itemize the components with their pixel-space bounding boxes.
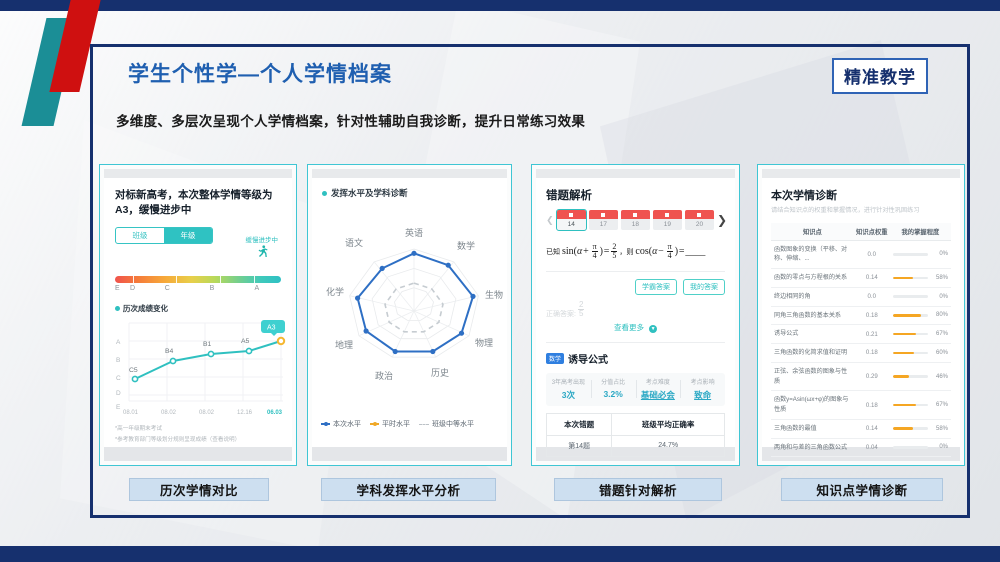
- panel1-footnotes: *高一年级期末考试 *参考教育部门等级划分规则呈现成绩（查看说明）: [115, 424, 281, 445]
- formula-prefix: 已知: [546, 247, 560, 257]
- svg-text:B1: B1: [203, 341, 212, 348]
- formula-mid: ，则: [619, 247, 633, 257]
- panel-bottom-strip: [312, 447, 507, 461]
- svg-text:生物: 生物: [485, 289, 503, 300]
- stat-score-share: 分值占比 3.2%: [591, 377, 636, 401]
- svg-text:物理: 物理: [475, 337, 493, 348]
- mastery-track: [893, 314, 928, 317]
- svg-text:06.03: 06.03: [267, 410, 283, 416]
- table-header-row: 本次错题 班级平均正确率: [547, 413, 725, 435]
- td-weight: 0.18: [854, 391, 890, 420]
- progress-note: 缓慢进步中: [246, 234, 279, 244]
- footnote-1: *高一年级期末考试: [115, 424, 281, 434]
- legend-dot-icon: [322, 191, 327, 196]
- precision-teaching-badge: 精准教学: [832, 58, 928, 94]
- question-number: 20: [685, 219, 714, 230]
- table-row: 三角函数的化简求值和证明0.1860%: [771, 344, 951, 363]
- panel-knowledge-diagnosis: 本次学情诊断 请结合知识点的权重和掌握情况，进行针对性巩固练习 知识点 知识点权…: [757, 164, 965, 466]
- legend-marker-orange-icon: [370, 423, 379, 425]
- td-knowledge-point: 两角和与差的三角函数公式: [771, 438, 854, 457]
- table-row: 同角三角函数的基本关系0.1880%: [771, 306, 951, 325]
- svg-text:B: B: [116, 357, 120, 364]
- legend-item-current: 本次水平: [321, 419, 361, 429]
- question-number: 19: [653, 219, 682, 230]
- formula-expr-2: cos(α −: [635, 246, 664, 257]
- wrong-mark-icon: [621, 210, 650, 219]
- caption-chip-knowledge-diagnosis: 知识点学情诊断: [781, 478, 943, 501]
- caption-chips: 历次学情对比 学科发挥水平分析 错题针对解析 知识点学情诊断: [99, 478, 965, 502]
- grade-label-B: B: [210, 285, 215, 292]
- formula-fraction-pi4-a: π4: [592, 243, 598, 261]
- table-row: 两角和与差的三角函数公式0.040%: [771, 438, 951, 457]
- stat-value: 致命: [680, 389, 725, 401]
- question-chip-20[interactable]: 20: [685, 210, 714, 230]
- answer-buttons[interactable]: 学霸答案 我的答案: [546, 279, 725, 295]
- svg-text:08.01: 08.01: [123, 410, 139, 416]
- history-line-chart: A B C D E: [115, 317, 287, 419]
- panel-subject-radar: 发挥水平及学科诊断: [307, 164, 512, 466]
- panel-top-strip: [312, 169, 507, 178]
- td-accuracy: 24.7%: [612, 435, 725, 456]
- table-row: 诱导公式0.2167%: [771, 325, 951, 344]
- top-navy-bar: [0, 0, 1000, 11]
- td-mastery: 0%: [890, 287, 951, 306]
- panel2-title-text: 发挥水平及学科诊断: [331, 187, 408, 199]
- stat-impact: 考点影响 致命: [680, 377, 725, 401]
- question-chip-19[interactable]: 19: [653, 210, 682, 230]
- wrong-mark-icon: [557, 210, 586, 219]
- table-row: 正弦、余弦函数的图象与性质0.2946%: [771, 362, 951, 391]
- panel4-headline: 本次学情诊断: [771, 187, 951, 203]
- td-knowledge-point: 终边相同的角: [771, 287, 854, 306]
- th-knowledge-point: 知识点: [771, 223, 854, 241]
- svg-text:语文: 语文: [345, 237, 363, 248]
- grade-scale-bar: E D C B A: [115, 276, 281, 296]
- grade-label-E: E: [115, 285, 120, 292]
- question-navigator[interactable]: ❮ 14 17 18 19: [546, 210, 725, 230]
- svg-text:C: C: [116, 375, 121, 382]
- knowledge-point-header: 数学 诱导公式: [546, 351, 725, 366]
- svg-text:12.16: 12.16: [237, 410, 253, 416]
- td-mastery: 58%: [890, 269, 951, 288]
- svg-text:数学: 数学: [457, 240, 475, 251]
- mastery-pct: 67%: [931, 402, 948, 408]
- svg-text:历史: 历史: [431, 367, 449, 378]
- table-header-row: 知识点 知识点权重 我的掌握程度: [771, 223, 951, 241]
- mastery-fill: [893, 352, 914, 355]
- legend-label-usual: 平时水平: [382, 419, 410, 429]
- mastery-pct: 0%: [931, 444, 948, 450]
- panel4-subtitle: 请结合知识点的权重和掌握情况，进行针对性巩固练习: [771, 206, 951, 217]
- svg-text:A3: A3: [267, 325, 276, 332]
- td-mastery: 60%: [890, 344, 951, 363]
- td-knowledge-point: 诱导公式: [771, 325, 854, 344]
- mastery-track: [893, 295, 928, 298]
- chevron-right-icon[interactable]: ❯: [717, 213, 725, 227]
- formula-expr-1: sin(α +: [562, 246, 590, 257]
- svg-text:英语: 英语: [405, 227, 423, 238]
- stat-value: 3次: [546, 389, 591, 401]
- mastery-fill: [893, 314, 921, 317]
- formula-blank: ) = ____: [675, 246, 706, 257]
- mastery-pct: 80%: [931, 312, 948, 318]
- knowledge-point-card: 数学 诱导公式 3年高考出现 3次 分值占比 3.2% 考点难: [546, 342, 725, 457]
- footnote-2: *参考教育部门等级划分规则呈现成绩（查看说明）: [115, 435, 281, 445]
- my-answer-button[interactable]: 我的答案: [683, 279, 725, 295]
- mastery-pct: 67%: [931, 331, 948, 337]
- mastery-track: [893, 427, 928, 430]
- svg-text:C5: C5: [129, 367, 138, 374]
- td-question-no: 第14题: [547, 435, 612, 456]
- th-class-accuracy: 班级平均正确率: [612, 413, 725, 435]
- stat-label: 分值占比: [591, 377, 636, 386]
- mastery-pct: 58%: [931, 275, 948, 281]
- wrong-mark-icon: [653, 210, 682, 219]
- td-mastery: 0%: [890, 438, 951, 457]
- mastery-track: [893, 446, 928, 449]
- wrong-question-table: 本次错题 班级平均正确率 第14题 24.7%: [546, 413, 725, 457]
- knowledge-diagnosis-table: 知识点 知识点权重 我的掌握程度 函数图象的变换（平移、对称、伸缩、...0.0…: [771, 223, 951, 458]
- panel-top-strip: [762, 169, 960, 178]
- table-row: 三角函数的最值0.1458%: [771, 419, 951, 438]
- table-row: 终边相同的角0.00%: [771, 287, 951, 306]
- td-weight: 0.14: [854, 419, 890, 438]
- panel1-headline: 对标新高考，本次整体学情等级为A3，缓慢进步中: [115, 188, 281, 218]
- legend-dot-icon: [115, 306, 120, 311]
- table-row: 第14题 24.7%: [547, 435, 725, 456]
- td-weight: 0.21: [854, 325, 890, 344]
- td-mastery: 67%: [890, 325, 951, 344]
- mastery-pct: 0%: [931, 251, 948, 257]
- history-legend-label: 历次成绩变化: [123, 303, 168, 314]
- td-mastery: 58%: [890, 419, 951, 438]
- panels-row: 对标新高考，本次整体学情等级为A3，缓慢进步中 班级 年级 缓慢进步中: [99, 164, 965, 468]
- caption-chip-subject-level: 学科发挥水平分析: [321, 478, 496, 501]
- legend-item-class-average: 班级中等水平: [419, 419, 474, 429]
- subject-radar-chart: 英语 数学 生物 物理 历史 政治 地理 化学 语文: [322, 203, 497, 421]
- page-subtitle: 多维度、多层次呈现个人学情档案，针对性辅助自我诊断，提升日常练习效果: [116, 110, 585, 130]
- td-knowledge-point: 函数图象的变换（平移、对称、伸缩、...: [771, 240, 854, 269]
- formula-paren-1: ) =: [600, 246, 610, 257]
- formula-fraction-result: 25: [611, 243, 617, 261]
- panel-bottom-strip: [104, 447, 292, 461]
- mastery-fill: [893, 277, 913, 280]
- mastery-fill: [893, 404, 917, 407]
- td-knowledge-point: 正弦、余弦函数的图象与性质: [771, 362, 854, 391]
- wrong-mark-icon: [589, 210, 618, 219]
- chevron-down-circle-icon: ▼: [649, 325, 657, 333]
- mastery-pct: 60%: [931, 350, 948, 356]
- svg-text:B4: B4: [165, 348, 174, 355]
- legend-label-class-average: 班级中等水平: [432, 419, 474, 429]
- mastery-fill: [893, 375, 909, 378]
- stat-exam-appearances: 3年高考出现 3次: [546, 377, 591, 401]
- mastery-track: [893, 333, 928, 336]
- history-legend: 历次成绩变化: [115, 303, 281, 314]
- question-number: 17: [589, 219, 618, 230]
- correct-answer-label: 正确答案:: [546, 309, 576, 319]
- mastery-track: [893, 253, 928, 256]
- td-knowledge-point: 函数y=Asin(ωx+φ)的图象与性质: [771, 391, 854, 420]
- td-mastery: 0%: [890, 240, 951, 269]
- panel3-headline: 错题解析: [546, 187, 725, 203]
- radar-legend: 本次水平 平时水平 班级中等水平: [321, 419, 498, 429]
- running-person-icon: [255, 244, 270, 263]
- svg-text:E: E: [116, 404, 121, 411]
- svg-text:A: A: [116, 339, 121, 346]
- question-number: 14: [557, 219, 586, 230]
- mastery-fill: [893, 333, 917, 336]
- formula-divider: [546, 271, 725, 272]
- td-mastery: 80%: [890, 306, 951, 325]
- stat-label: 考点影响: [680, 377, 725, 386]
- caption-chip-wrong-question: 错题针对解析: [554, 478, 722, 501]
- svg-text:08.02: 08.02: [161, 410, 177, 416]
- mastery-track: [893, 375, 928, 378]
- legend-marker-dashed-icon: [419, 424, 429, 425]
- legend-label-current: 本次水平: [333, 419, 361, 429]
- td-knowledge-point: 三角函数的最值: [771, 419, 854, 438]
- wrong-mark-icon: [685, 210, 714, 219]
- panel-top-strip: [104, 169, 292, 178]
- svg-text:化学: 化学: [326, 286, 344, 297]
- panel2-headline: 发挥水平及学科诊断: [322, 187, 497, 199]
- td-weight: 0.14: [854, 269, 890, 288]
- top-student-answer-button[interactable]: 学霸答案: [635, 279, 677, 295]
- panel-historical-comparison: 对标新高考，本次整体学情等级为A3，缓慢进步中 班级 年级 缓慢进步中: [99, 164, 297, 466]
- stat-value: 3.2%: [591, 389, 636, 399]
- td-weight: 0.29: [854, 362, 890, 391]
- question-chip-17[interactable]: 17: [589, 210, 618, 230]
- knowledge-point-name: 诱导公式: [568, 351, 608, 366]
- toggle-option-class[interactable]: 班级: [116, 228, 164, 243]
- table-row: 函数的零点与方程根的关系0.1458%: [771, 269, 951, 288]
- table-row: 函数y=Asin(ωx+φ)的图象与性质0.1867%: [771, 391, 951, 420]
- table-row: 函数图象的变换（平移、对称、伸缩、...0.00%: [771, 240, 951, 269]
- view-more-label: 查看更多: [614, 323, 644, 332]
- mastery-track: [893, 277, 928, 280]
- svg-text:D: D: [116, 390, 121, 397]
- subject-tag: 数学: [546, 353, 564, 364]
- td-weight: 0.18: [854, 306, 890, 325]
- grade-scale-labels: E D C B A: [115, 285, 281, 296]
- th-mastery: 我的掌握程度: [890, 223, 951, 241]
- question-chip-18[interactable]: 18: [621, 210, 650, 230]
- legend-item-usual: 平时水平: [370, 419, 410, 429]
- svg-text:政治: 政治: [375, 370, 393, 381]
- td-knowledge-point: 函数的零点与方程根的关系: [771, 269, 854, 288]
- toggle-option-grade[interactable]: 年级: [164, 228, 212, 243]
- panel-top-strip: [536, 169, 735, 178]
- caption-chip-history: 历次学情对比: [129, 478, 269, 501]
- view-more-link[interactable]: 查看更多 ▼: [546, 322, 725, 333]
- th-weight: 知识点权重: [854, 223, 890, 241]
- td-knowledge-point: 三角函数的化简求值和证明: [771, 344, 854, 363]
- mastery-track: [893, 352, 928, 355]
- question-formula: 已知 sin(α + π4 ) = 25 ，则 cos(α − π4 ) = _…: [546, 243, 725, 261]
- question-number: 18: [621, 219, 650, 230]
- question-chip-14[interactable]: 14: [557, 210, 586, 230]
- td-knowledge-point: 同角三角函数的基本关系: [771, 306, 854, 325]
- bottom-navy-bar: [0, 546, 1000, 562]
- stat-label: 3年高考出现: [546, 377, 591, 386]
- scope-toggle[interactable]: 班级 年级: [115, 227, 213, 244]
- td-weight: 0.18: [854, 344, 890, 363]
- mastery-fill: [893, 427, 913, 430]
- mastery-pct: 46%: [931, 374, 948, 380]
- correct-answer-fraction: 25: [578, 301, 584, 319]
- knowledge-point-stats: 3年高考出现 3次 分值占比 3.2% 考点难度 基础必会 考点影响: [546, 373, 725, 406]
- svg-text:08.02: 08.02: [199, 410, 215, 416]
- page-title: 学生个性学—个人学情档案: [128, 58, 392, 88]
- grade-label-A: A: [254, 285, 259, 292]
- grade-label-D: D: [130, 285, 135, 292]
- mastery-pct: 0%: [931, 294, 948, 300]
- chevron-left-icon[interactable]: ❮: [546, 215, 554, 226]
- td-weight: 0.0: [854, 240, 890, 269]
- mastery-track: [893, 404, 928, 407]
- stat-difficulty: 考点难度 基础必会: [636, 377, 681, 401]
- correct-answer-row: 正确答案: 25: [546, 301, 725, 319]
- svg-text:A5: A5: [241, 338, 250, 345]
- stat-value: 基础必会: [636, 389, 681, 401]
- td-weight: 0.04: [854, 438, 890, 457]
- grade-gradient-bar: [115, 276, 281, 283]
- svg-text:地理: 地理: [335, 339, 353, 350]
- grade-label-C: C: [165, 285, 170, 292]
- td-mastery: 46%: [890, 362, 951, 391]
- stat-label: 考点难度: [636, 377, 681, 386]
- th-current-wrong: 本次错题: [547, 413, 612, 435]
- td-mastery: 67%: [890, 391, 951, 420]
- td-weight: 0.0: [854, 287, 890, 306]
- mastery-pct: 58%: [931, 426, 948, 432]
- panel-wrong-question-analysis: 错题解析 ❮ 14 17 18: [531, 164, 740, 466]
- formula-fraction-pi4-b: π4: [667, 243, 673, 261]
- legend-marker-blue-icon: [321, 423, 330, 425]
